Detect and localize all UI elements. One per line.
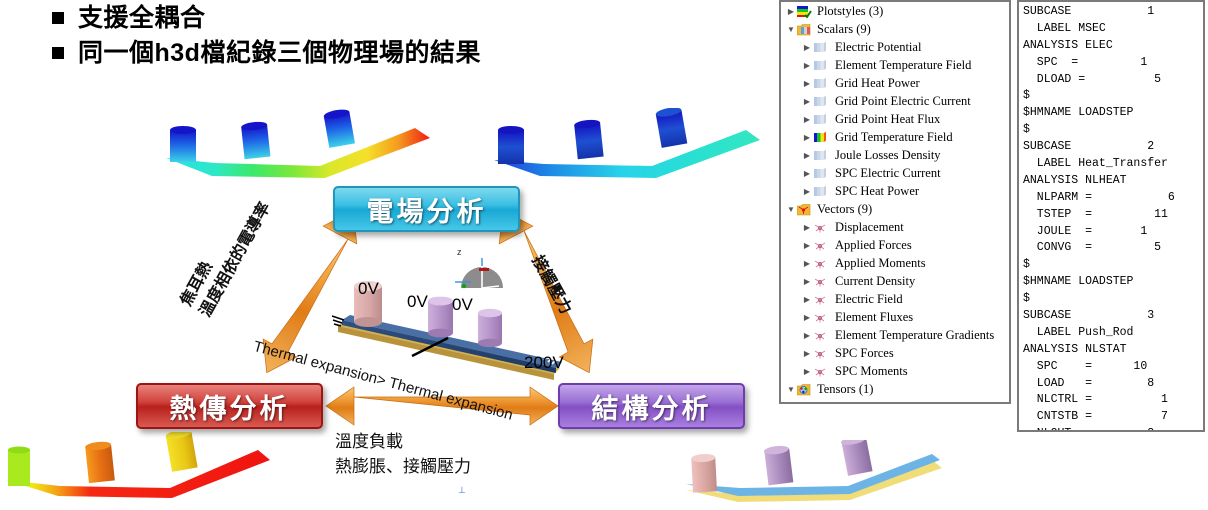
vector-icon <box>813 239 828 252</box>
node-label: 熱傳分析 <box>170 387 290 426</box>
code-line: $ <box>1023 88 1203 105</box>
plotstyles-icon <box>797 5 812 18</box>
tree-item[interactable]: ▼Tensors (1) <box>781 380 1009 398</box>
tree-item-label: Grid Heat Power <box>835 76 920 91</box>
code-line: ANALYSIS NLHEAT <box>1023 173 1203 190</box>
results-tree-panel[interactable]: ▶Plotstyles (3)▼Scalars (9)▶Electric Pot… <box>779 0 1011 404</box>
tree-item[interactable]: ▶SPC Forces <box>781 344 1009 362</box>
tree-item-label: Plotstyles (3) <box>817 4 883 19</box>
code-line: LABEL MSEC <box>1023 21 1203 38</box>
chevron-right-icon[interactable]: ▶ <box>785 7 797 16</box>
scalar-icon <box>813 185 828 198</box>
voltage-label-200v: 200V <box>524 353 564 373</box>
tree-item[interactable]: ▶Electric Potential <box>781 38 1009 56</box>
chevron-down-icon[interactable]: ▼ <box>785 205 797 214</box>
square-bullet-icon <box>52 12 64 24</box>
chevron-right-icon[interactable]: ▶ <box>801 241 813 250</box>
chevron-right-icon[interactable]: ▶ <box>801 313 813 322</box>
code-line: LABEL Heat_Transfer <box>1023 156 1203 173</box>
fea-view-bottom-right-contour <box>680 440 980 510</box>
code-line: TSTEP = 11 <box>1023 207 1203 224</box>
chevron-right-icon[interactable]: ▶ <box>801 259 813 268</box>
tree-item[interactable]: ▶Element Stresses (2D & 3D) (Gauss) <box>781 398 1009 404</box>
tensors-folder-icon <box>797 383 812 396</box>
code-line: SUBCASE 3 <box>1023 308 1203 325</box>
tree-item[interactable]: ▶Plotstyles (3) <box>781 2 1009 20</box>
chevron-right-icon[interactable]: ▶ <box>801 295 813 304</box>
vector-icon <box>813 365 828 378</box>
diagram-node-structural[interactable]: 結構分析 <box>558 383 745 429</box>
code-line: $HMNAME LOADSTEP <box>1023 274 1203 291</box>
chevron-right-icon[interactable]: ▶ <box>801 367 813 376</box>
scalar-icon <box>813 149 828 162</box>
tree-item-label: Electric Field <box>835 292 903 307</box>
tree-item[interactable]: ▼Scalars (9) <box>781 20 1009 38</box>
tree-item-label: Grid Temperature Field <box>835 130 953 145</box>
tree-item[interactable]: ▶Current Density <box>781 272 1009 290</box>
chevron-right-icon[interactable]: ▶ <box>801 115 813 124</box>
bullet-text: 同一個h3d檔紀錄三個物理場的結果 <box>78 37 481 69</box>
tree-item-label: Electric Potential <box>835 40 921 55</box>
edge-label-line2: 溫度相依的電導率 <box>197 199 274 319</box>
code-line: $ <box>1023 291 1203 308</box>
code-line: CNTSTB = 7 <box>1023 409 1203 426</box>
code-line: LOAD = 8 <box>1023 376 1203 393</box>
scalar-icon <box>813 41 828 54</box>
vector-icon <box>813 257 828 270</box>
code-line: SPC = 1 <box>1023 55 1203 72</box>
axis-indicator-bottom: ⊥ <box>458 485 466 496</box>
tree-item-label: SPC Electric Current <box>835 166 941 181</box>
tree-item-label: Vectors (9) <box>817 202 872 217</box>
tree-item[interactable]: ▶Grid Point Electric Current <box>781 92 1009 110</box>
rotation-gauge-icon <box>455 258 509 290</box>
tree-item-label: Applied Forces <box>835 238 912 253</box>
tree-item[interactable]: ▶Applied Moments <box>781 254 1009 272</box>
voltage-label-0v-1: 0V <box>358 279 379 299</box>
vector-icon <box>813 221 828 234</box>
edge-label-thermal-structural: 溫度負載 熱膨脹、接觸壓力 <box>335 430 471 479</box>
vector-icon <box>813 347 828 360</box>
code-line: $ <box>1023 257 1203 274</box>
tree-item[interactable]: ▶SPC Heat Power <box>781 182 1009 200</box>
vector-icon <box>813 311 828 324</box>
tree-item-label: Element Temperature Gradients <box>835 328 994 343</box>
tree-item-label: Applied Moments <box>835 256 926 271</box>
tree-item[interactable]: ▶Element Fluxes <box>781 308 1009 326</box>
edge-label-line1: 溫度負載 <box>335 430 471 455</box>
tree-item-label: SPC Heat Power <box>835 184 919 199</box>
square-bullet-icon <box>52 47 64 59</box>
chevron-right-icon[interactable]: ▶ <box>801 79 813 88</box>
code-line: LABEL Push_Rod <box>1023 325 1203 342</box>
tree-item-label: Grid Point Electric Current <box>835 94 971 109</box>
vector-icon <box>813 329 828 342</box>
chevron-right-icon[interactable]: ▶ <box>801 61 813 70</box>
node-label: 結構分析 <box>592 387 712 426</box>
scalar-icon <box>813 59 828 72</box>
code-line: SUBCASE 1 <box>1023 4 1203 21</box>
edge-label-electric-thermal: 焦耳熱 溫度相依的電導率 <box>176 188 276 321</box>
tree-item[interactable]: ▶Element Temperature Gradients <box>781 326 1009 344</box>
chevron-down-icon[interactable]: ▼ <box>785 25 797 34</box>
code-line: DLOAD = 5 <box>1023 72 1203 89</box>
tree-item-label: Current Density <box>835 274 915 289</box>
tree-item-label: Tensors (1) <box>817 382 873 397</box>
code-line: ANALYSIS NLSTAT <box>1023 342 1203 359</box>
tree-item[interactable]: ▶Grid Temperature Field <box>781 128 1009 146</box>
tree-item-label: Element Fluxes <box>835 310 913 325</box>
scalar-icon <box>813 77 828 90</box>
subcase-deck-panel[interactable]: SUBCASE 1 LABEL MSECANALYSIS ELEC SPC = … <box>1017 0 1205 432</box>
tensor-icon <box>813 401 828 405</box>
tree-item[interactable]: ▶Grid Heat Power <box>781 74 1009 92</box>
diagram-node-thermal[interactable]: 熱傳分析 <box>136 383 323 429</box>
tree-item[interactable]: ▶Displacement <box>781 218 1009 236</box>
chevron-right-icon[interactable]: ▶ <box>801 43 813 52</box>
tree-item-label: SPC Forces <box>835 346 894 361</box>
list-item: 支援全耦合 <box>52 2 752 34</box>
code-line: NLPARM = 6 <box>1023 190 1203 207</box>
tree-item[interactable]: ▶Joule Losses Density <box>781 146 1009 164</box>
chevron-right-icon[interactable]: ▶ <box>801 151 813 160</box>
code-line: NLOUT = 2 <box>1023 426 1203 432</box>
tree-item[interactable]: ▶Applied Forces <box>781 236 1009 254</box>
tree-item-label: Element Stresses (2D & 3D) (Gauss) <box>835 400 1011 405</box>
code-line: SPC = 10 <box>1023 359 1203 376</box>
axis-label-z: z <box>457 247 462 257</box>
voltage-label-0v-3: 0V <box>452 295 473 315</box>
tree-item-label: Displacement <box>835 220 904 235</box>
vector-icon <box>813 275 828 288</box>
code-line: $ <box>1023 122 1203 139</box>
scalars-folder-icon <box>797 23 812 36</box>
code-line: SUBCASE 2 <box>1023 139 1203 156</box>
tree-item[interactable]: ▼Vectors (9) <box>781 200 1009 218</box>
tree-item-label: Scalars (9) <box>817 22 871 37</box>
chevron-right-icon[interactable]: ▶ <box>801 349 813 358</box>
tree-item[interactable]: ▶SPC Electric Current <box>781 164 1009 182</box>
code-line: NLCTRL = 1 <box>1023 392 1203 409</box>
chevron-right-icon[interactable]: ▶ <box>801 403 813 405</box>
tree-item-label: Element Temperature Field <box>835 58 971 73</box>
fea-view-top-right-contour <box>480 108 780 203</box>
bullet-list: 支援全耦合 同一個h3d檔紀錄三個物理場的結果 <box>52 2 752 72</box>
scalar-active-icon <box>813 131 828 144</box>
bullet-text: 支援全耦合 <box>78 2 206 34</box>
chevron-right-icon[interactable]: ▶ <box>801 169 813 178</box>
tree-item-label: SPC Moments <box>835 364 908 379</box>
vectors-folder-icon <box>797 203 812 216</box>
chevron-down-icon[interactable]: ▼ <box>785 385 797 394</box>
tree-item-label: Grid Point Heat Flux <box>835 112 940 127</box>
tree-item[interactable]: ▶Grid Point Heat Flux <box>781 110 1009 128</box>
chevron-right-icon[interactable]: ▶ <box>801 331 813 340</box>
fea-view-bottom-left-contour <box>0 432 300 510</box>
scalar-icon <box>813 95 828 108</box>
code-line: $HMNAME LOADSTEP <box>1023 105 1203 122</box>
chevron-right-icon[interactable]: ▶ <box>801 277 813 286</box>
voltage-label-0v-2: 0V <box>407 292 428 312</box>
chevron-right-icon[interactable]: ▶ <box>801 187 813 196</box>
code-line: JOULE = 1 <box>1023 224 1203 241</box>
code-line: ANALYSIS ELEC <box>1023 38 1203 55</box>
chevron-right-icon[interactable]: ▶ <box>801 97 813 106</box>
scalar-icon <box>813 113 828 126</box>
node-label: 電場分析 <box>367 190 487 229</box>
code-line: CONVG = 5 <box>1023 240 1203 257</box>
chevron-right-icon[interactable]: ▶ <box>801 223 813 232</box>
list-item: 同一個h3d檔紀錄三個物理場的結果 <box>52 37 752 69</box>
scalar-icon <box>813 167 828 180</box>
tree-item[interactable]: ▶Element Temperature Field <box>781 56 1009 74</box>
diagram-node-electric[interactable]: 電場分析 <box>333 186 520 232</box>
tree-item-label: Joule Losses Density <box>835 148 941 163</box>
tree-item[interactable]: ▶SPC Moments <box>781 362 1009 380</box>
chevron-right-icon[interactable]: ▶ <box>801 133 813 142</box>
edge-label-line2: 熱膨脹、接觸壓力 <box>335 455 471 480</box>
vector-icon <box>813 293 828 306</box>
tree-item[interactable]: ▶Electric Field <box>781 290 1009 308</box>
